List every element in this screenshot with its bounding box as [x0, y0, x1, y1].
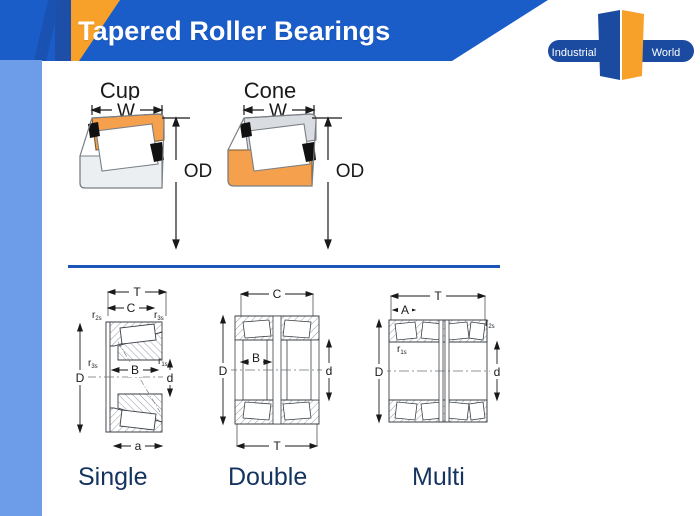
double-roller-top-left: [243, 320, 271, 338]
multi-roller-t3: [447, 322, 469, 340]
left-sidebar-band: [0, 60, 42, 516]
section-divider: [68, 265, 500, 268]
single-label-r3s-top: r3s: [154, 310, 164, 322]
single-label-D: D: [76, 371, 85, 385]
single-label-C: C: [127, 301, 136, 315]
logo-cross-orange: [622, 10, 644, 80]
single-label-B: B: [131, 363, 139, 377]
page-title: Tapered Roller Bearings: [78, 14, 390, 48]
figure-double: C: [205, 282, 350, 457]
multi-roller-t1: [395, 322, 417, 340]
double-label-T: T: [273, 439, 281, 453]
brand-logo: Industrial World: [548, 8, 694, 82]
multi-label-A: A: [401, 303, 409, 317]
figure-cone: Cone W: [212, 78, 392, 258]
slide-root: Tapered Roller Bearings Industrial World…: [0, 0, 700, 516]
cup-bearing-drawing: [80, 114, 164, 188]
double-roller-bottom-left: [243, 402, 271, 420]
cone-wedge-left: [240, 122, 252, 138]
multi-roller-t4: [469, 322, 485, 340]
figure-multi: T A r2s r1s: [363, 282, 518, 457]
logo-text-industrial: Industrial: [552, 47, 597, 59]
double-label-C: C: [273, 287, 282, 301]
multi-bearing-section: [381, 320, 497, 422]
double-bearing-section: [227, 316, 331, 424]
cup-caption: Cup: [100, 78, 140, 103]
logo-cross-blue: [598, 10, 620, 80]
cone-bearing-drawing: [228, 114, 316, 186]
logo-cross-split: [620, 10, 622, 80]
double-label-D: D: [219, 364, 228, 378]
caption-single: Single: [78, 463, 148, 492]
multi-label-T: T: [434, 289, 442, 303]
caption-double: Double: [228, 463, 307, 492]
single-roller-bottom: [120, 410, 156, 430]
cup-roller: [96, 124, 158, 171]
multi-label-d: d: [494, 365, 501, 379]
cup-od-dimension: [162, 118, 190, 248]
single-label-T: T: [133, 285, 141, 299]
single-label-d: d: [167, 371, 174, 385]
multi-label-D: D: [375, 365, 384, 379]
cone-roller: [248, 124, 310, 171]
single-roller-top: [120, 324, 156, 344]
double-roller-top-right: [283, 320, 311, 338]
single-label-r2s: r2s: [92, 310, 102, 322]
multi-roller-b3: [447, 402, 469, 420]
multi-roller-b1: [395, 402, 417, 420]
single-label-r3s-mid: r3s: [88, 358, 98, 370]
logo-text-world: World: [652, 47, 681, 59]
single-label-a: a: [135, 439, 142, 453]
cup-od-label: OD: [184, 161, 213, 182]
double-label-d: d: [326, 364, 333, 378]
caption-multi: Multi: [412, 463, 465, 492]
multi-label-r1s: r1s: [397, 344, 407, 356]
cone-caption: Cone: [244, 78, 297, 103]
figure-single: T C r2s r3s r3s r1s: [62, 282, 192, 457]
double-label-B: B: [252, 351, 260, 365]
cone-od-label: OD: [336, 161, 365, 182]
double-roller-bottom-right: [283, 402, 311, 420]
multi-roller-b4: [469, 402, 485, 420]
